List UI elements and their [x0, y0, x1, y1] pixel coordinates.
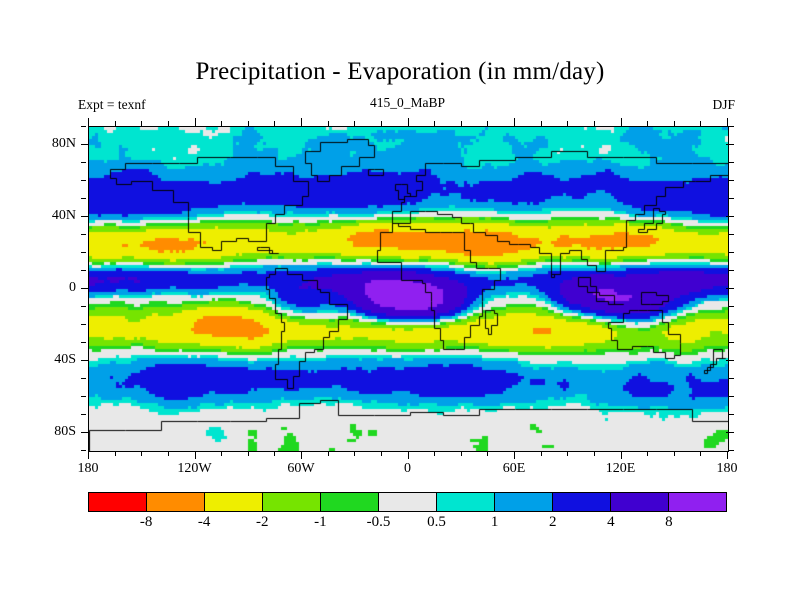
tick-mark: [729, 252, 734, 253]
x-axis-tick-label: 60E: [503, 461, 526, 477]
tick-mark: [408, 451, 409, 459]
tick-mark: [301, 451, 302, 459]
y-axis-tick-label: 80S: [54, 424, 76, 440]
tick-mark: [81, 360, 89, 361]
tick-mark: [88, 451, 89, 459]
tick-mark: [487, 121, 488, 126]
x-axis-tick-label: 0: [404, 461, 411, 477]
tick-mark: [195, 118, 196, 126]
tick-mark: [647, 121, 648, 126]
tick-mark: [141, 121, 142, 126]
y-axis-tick-label: 40N: [52, 208, 76, 224]
tick-mark: [727, 451, 728, 459]
tick-mark: [729, 180, 734, 181]
page-title: Precipitation - Evaporation (in mm/day): [0, 58, 800, 86]
run-label: 415_0_MaBP: [88, 95, 727, 111]
figure-canvas: Precipitation - Evaporation (in mm/day) …: [0, 0, 800, 600]
colorbar-band: [378, 493, 436, 511]
tick-mark: [729, 198, 734, 199]
tick-mark: [81, 288, 89, 289]
tick-mark: [221, 451, 222, 456]
tick-mark: [81, 306, 86, 307]
y-axis-ticks-left: [81, 126, 90, 451]
colorbar-bands: [88, 492, 727, 512]
tick-mark: [461, 121, 462, 126]
tick-mark: [81, 180, 86, 181]
tick-mark: [729, 450, 734, 451]
colorbar-band: [668, 493, 726, 511]
tick-mark: [729, 324, 734, 325]
tick-mark: [141, 451, 142, 456]
tick-mark: [248, 451, 249, 456]
tick-mark: [354, 121, 355, 126]
precip-evap-map: [89, 127, 728, 451]
map-plot-frame: [88, 126, 729, 452]
tick-mark: [700, 451, 701, 456]
tick-mark: [594, 451, 595, 456]
tick-mark: [726, 360, 734, 361]
colorbar-tick-label: -4: [198, 514, 211, 531]
colorbar-band: [146, 493, 204, 511]
tick-mark: [729, 378, 734, 379]
tick-mark: [408, 118, 409, 126]
tick-mark: [621, 118, 622, 126]
tick-mark: [81, 252, 86, 253]
colorbar-band: [89, 493, 146, 511]
tick-mark: [541, 451, 542, 456]
tick-mark: [514, 451, 515, 459]
tick-mark: [81, 378, 86, 379]
y-axis-tick-label: 40S: [54, 352, 76, 368]
colorbar-band: [552, 493, 610, 511]
tick-mark: [81, 162, 86, 163]
colorbar-tick-label: 1: [491, 514, 499, 531]
tick-mark: [81, 216, 89, 217]
colorbar-band: [610, 493, 668, 511]
colorbar-band: [320, 493, 378, 511]
colorbar-band: [494, 493, 552, 511]
tick-mark: [434, 121, 435, 126]
tick-mark: [81, 396, 86, 397]
tick-mark: [700, 121, 701, 126]
tick-mark: [726, 432, 734, 433]
tick-mark: [594, 121, 595, 126]
x-axis-tick-label: 60W: [287, 461, 314, 477]
tick-mark: [81, 432, 89, 433]
season-label: DJF: [712, 97, 735, 113]
subtitle-row: Expt = texnf 415_0_MaBP DJF: [88, 97, 727, 115]
tick-mark: [729, 270, 734, 271]
tick-mark: [647, 451, 648, 456]
tick-mark: [328, 121, 329, 126]
colorbar-tick-label: 0.5: [427, 514, 446, 531]
tick-mark: [168, 451, 169, 456]
tick-mark: [274, 451, 275, 456]
tick-mark: [729, 126, 734, 127]
y-axis-ticks-right: [726, 126, 735, 451]
colorbar-tick-label: -1: [314, 514, 327, 531]
tick-mark: [621, 451, 622, 459]
x-axis-tick-label: 120W: [177, 461, 211, 477]
tick-mark: [729, 414, 734, 415]
colorbar: -8-4-2-1-0.50.51248: [88, 492, 727, 512]
tick-mark: [674, 121, 675, 126]
tick-mark: [726, 288, 734, 289]
tick-mark: [81, 270, 86, 271]
colorbar-tick-label: -2: [256, 514, 269, 531]
x-axis-tick-label: 120E: [606, 461, 636, 477]
y-axis-tick-label: 0: [69, 280, 76, 296]
tick-mark: [81, 234, 86, 235]
tick-mark: [248, 121, 249, 126]
tick-mark: [81, 450, 86, 451]
tick-mark: [567, 121, 568, 126]
tick-mark: [115, 121, 116, 126]
tick-mark: [81, 324, 86, 325]
colorbar-tick-label: 2: [549, 514, 557, 531]
tick-mark: [81, 414, 86, 415]
tick-mark: [301, 118, 302, 126]
tick-mark: [81, 126, 86, 127]
tick-mark: [729, 306, 734, 307]
colorbar-band: [204, 493, 262, 511]
tick-mark: [567, 451, 568, 456]
tick-mark: [461, 451, 462, 456]
x-axis-ticks-top: [88, 118, 728, 127]
colorbar-tick-label: 8: [665, 514, 673, 531]
tick-mark: [88, 118, 89, 126]
x-axis-ticks-bottom: [88, 451, 728, 460]
y-axis-tick-label: 80N: [52, 136, 76, 152]
tick-mark: [81, 342, 86, 343]
tick-mark: [727, 118, 728, 126]
tick-mark: [354, 451, 355, 456]
tick-mark: [487, 451, 488, 456]
colorbar-tick-labels: -8-4-2-1-0.50.51248: [88, 514, 727, 536]
tick-mark: [381, 121, 382, 126]
tick-mark: [434, 451, 435, 456]
tick-mark: [328, 451, 329, 456]
x-axis-tick-label: 180: [717, 461, 738, 477]
tick-mark: [729, 234, 734, 235]
tick-mark: [729, 162, 734, 163]
tick-mark: [729, 342, 734, 343]
tick-mark: [514, 118, 515, 126]
colorbar-band: [436, 493, 494, 511]
tick-mark: [221, 121, 222, 126]
tick-mark: [729, 396, 734, 397]
x-axis-tick-label: 180: [78, 461, 99, 477]
tick-mark: [726, 216, 734, 217]
tick-mark: [674, 451, 675, 456]
tick-mark: [115, 451, 116, 456]
colorbar-tick-label: -8: [140, 514, 153, 531]
tick-mark: [726, 144, 734, 145]
tick-mark: [81, 144, 89, 145]
tick-mark: [381, 451, 382, 456]
tick-mark: [274, 121, 275, 126]
tick-mark: [81, 198, 86, 199]
tick-mark: [168, 121, 169, 126]
tick-mark: [195, 451, 196, 459]
tick-mark: [541, 121, 542, 126]
colorbar-tick-label: 4: [607, 514, 615, 531]
colorbar-band: [262, 493, 320, 511]
colorbar-tick-label: -0.5: [367, 514, 391, 531]
